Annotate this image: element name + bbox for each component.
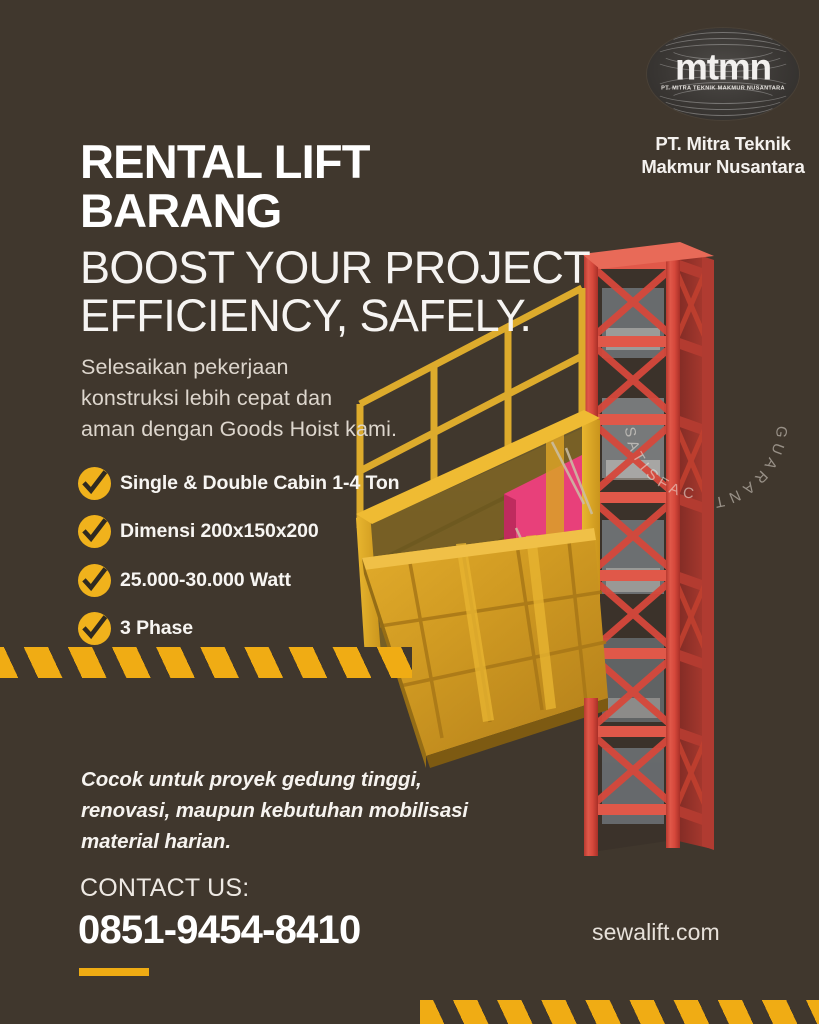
feature-label: 3 Phase bbox=[120, 617, 193, 640]
feature-item: Dimensi 200x150x200 bbox=[78, 508, 498, 557]
accent-underline-rule bbox=[79, 968, 149, 976]
pitch-line2: renovasi, maupun kebutuhan mobilisasi bbox=[81, 799, 468, 822]
feature-label: 25.000-30.000 Watt bbox=[120, 569, 291, 592]
feature-label: Single & Double Cabin 1-4 Ton bbox=[120, 472, 400, 495]
check-circle-icon bbox=[78, 564, 111, 597]
logo-tagline-text: PT. MITRA TEKNIK MAKMUR NUSANTARA bbox=[647, 87, 799, 93]
company-name-line1: PT. Mitra Teknik bbox=[628, 133, 818, 156]
feature-item: 25.000-30.000 Watt bbox=[78, 556, 498, 605]
subcopy-line2: konstruksi lebih cepat dan bbox=[81, 386, 332, 410]
headline-primary: RENTAL LIFT BARANG bbox=[80, 137, 640, 236]
pitch-line1: Cocok untuk proyek gedung tinggi, bbox=[81, 768, 422, 791]
mtmn-ellipse-logo-icon: mtmn PT. MITRA TEKNIK MAKMUR NUSANTARA bbox=[647, 28, 799, 120]
headline-secondary-line2: EFFICIENCY, SAFELY. bbox=[80, 290, 531, 341]
pitch-paragraph: Cocok untuk proyek gedung tinggi, renova… bbox=[81, 765, 561, 857]
company-name: PT. Mitra Teknik Makmur Nusantara bbox=[628, 133, 818, 178]
check-circle-icon bbox=[78, 515, 111, 548]
company-name-line2: Makmur Nusantara bbox=[628, 156, 818, 179]
check-circle-icon bbox=[78, 467, 111, 500]
contact-us-label: CONTACT US: bbox=[80, 874, 249, 903]
hazard-stripe-band-bottom bbox=[420, 1000, 819, 1024]
subcopy-line3: aman dengan Goods Hoist kami. bbox=[81, 417, 397, 441]
brand-logo-block: mtmn PT. MITRA TEKNIK MAKMUR NUSANTARA P… bbox=[628, 28, 818, 178]
feature-list: Single & Double Cabin 1-4 Ton Dimensi 20… bbox=[78, 459, 498, 653]
headline-secondary: BOOST YOUR PROJECT EFFICIENCY, SAFELY. bbox=[80, 244, 640, 340]
feature-item: 3 Phase bbox=[78, 605, 498, 654]
contact-phone-number[interactable]: 0851-9454-8410 bbox=[78, 908, 360, 953]
headline-primary-line1: RENTAL LIFT bbox=[80, 135, 370, 188]
headline-secondary-line1: BOOST YOUR PROJECT bbox=[80, 242, 590, 293]
poster-canvas: SATISFACTION GUARANT mtmn PT. MITRA TEKN… bbox=[0, 0, 819, 1024]
pitch-line3: material harian. bbox=[81, 830, 231, 853]
feature-label: Dimensi 200x150x200 bbox=[120, 520, 319, 543]
website-link[interactable]: sewalift.com bbox=[592, 919, 720, 946]
subcopy-paragraph: Selesaikan pekerjaan konstruksi lebih ce… bbox=[81, 352, 441, 446]
headline-group: RENTAL LIFT BARANG BOOST YOUR PROJECT EF… bbox=[80, 137, 640, 340]
subcopy-line1: Selesaikan pekerjaan bbox=[81, 355, 289, 379]
logo-wordmark-text: mtmn bbox=[647, 49, 799, 86]
check-circle-icon bbox=[78, 612, 111, 645]
feature-item: Single & Double Cabin 1-4 Ton bbox=[78, 459, 498, 508]
headline-primary-line2: BARANG bbox=[80, 184, 281, 237]
